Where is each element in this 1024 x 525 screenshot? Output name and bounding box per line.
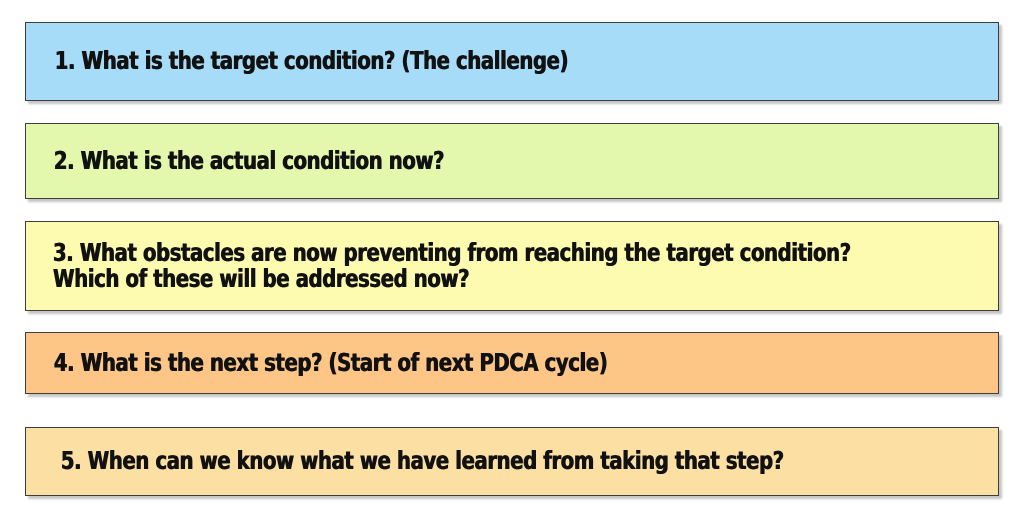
question-bar-5[interactable]: 5. When can we know what we have learned… xyxy=(25,427,999,496)
question-bar-2-line-1: 2. What is the actual condition now? xyxy=(26,148,872,175)
question-bar-3-line-2: Which of these will be addressed now? xyxy=(26,266,872,293)
question-bar-3[interactable]: 3. What obstacles are now preventing fro… xyxy=(25,221,999,311)
five-questions-slide: 1. What is the target condition? (The ch… xyxy=(0,0,1024,525)
question-bar-2[interactable]: 2. What is the actual condition now? xyxy=(25,123,999,199)
question-bar-1-line-1: 1. What is the target condition? (The ch… xyxy=(26,48,872,75)
question-bar-1[interactable]: 1. What is the target condition? (The ch… xyxy=(25,22,999,101)
question-bar-3-line-1: 3. What obstacles are now preventing fro… xyxy=(26,240,872,267)
question-bar-5-line-1: 5. When can we know what we have learned… xyxy=(26,448,872,475)
question-bar-4-line-1: 4. What is the next step? (Start of next… xyxy=(26,350,872,377)
question-bar-4[interactable]: 4. What is the next step? (Start of next… xyxy=(25,332,999,394)
